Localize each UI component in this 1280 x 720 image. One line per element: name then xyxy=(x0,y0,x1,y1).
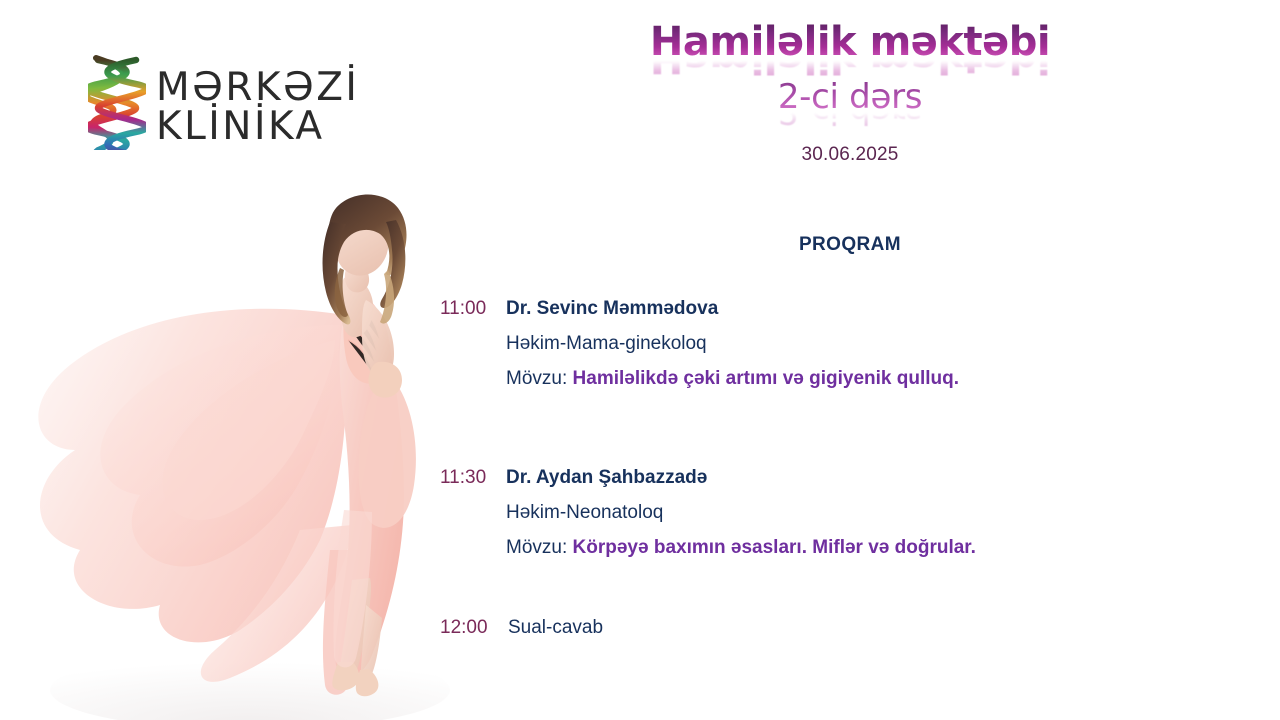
main-title-wrap: Hamiləlik məktəbi Hamiləlik məktəbi xyxy=(600,22,1100,78)
brand-logo: MƏRKƏZİ KLİNİKA xyxy=(88,50,338,165)
program-schedule: 11:00 Dr. Sevinc Məmmədova Həkim-Mama-gi… xyxy=(440,298,1230,639)
dna-helix-icon xyxy=(88,54,146,162)
topic-text: Körpəyə baxımın əsasları. Miflər və doğr… xyxy=(573,537,976,558)
session-role: Həkim-Neonatoloq xyxy=(506,502,1230,524)
page-title: Hamiləlik məktəbi xyxy=(600,22,1100,62)
subtitle-wrap: 2-ci dərs 2-ci dərs xyxy=(600,80,1100,128)
program-heading: PROQRAM xyxy=(600,234,1100,256)
session-speaker: Dr. Sevinc Məmmədova xyxy=(506,298,718,320)
page-subtitle-reflection: 2-ci dərs xyxy=(600,113,1100,128)
session-header: 11:00 Dr. Sevinc Məmmədova xyxy=(440,298,1230,320)
closing-label: Sual-cavab xyxy=(506,617,603,639)
session-header: 11:30 Dr. Aydan Şahbazzadə xyxy=(440,467,1230,489)
brand-name-line1: MƏRKƏZİ xyxy=(156,69,359,107)
closing-header: 12:00 Sual-cavab xyxy=(440,617,1230,639)
schedule-gap xyxy=(440,559,1230,617)
schedule-session: 11:30 Dr. Aydan Şahbazzadə Həkim-Neonato… xyxy=(440,467,1230,559)
page-title-reflection: Hamiləlik məktəbi xyxy=(600,61,1100,78)
page-subtitle: 2-ci dərs xyxy=(600,80,1100,114)
brand-name-line2: KLİNİKA xyxy=(156,108,359,146)
title-block: Hamiləlik məktəbi Hamiləlik məktəbi 2-ci… xyxy=(600,22,1100,166)
topic-label: Mövzu: xyxy=(506,537,567,558)
session-speaker: Dr. Aydan Şahbazzadə xyxy=(506,467,707,489)
topic-label: Mövzu: xyxy=(506,368,567,389)
session-time: 11:30 xyxy=(440,467,506,489)
schedule-session: 11:00 Dr. Sevinc Məmmədova Həkim-Mama-gi… xyxy=(440,298,1230,390)
session-role: Həkim-Mama-ginekoloq xyxy=(506,333,1230,355)
hero-image-pregnant-woman xyxy=(0,150,450,720)
session-topic: Mövzu: Hamiləlikdə çəki artımı və gigiye… xyxy=(506,368,1230,390)
schedule-gap xyxy=(440,390,1230,467)
schedule-closing: 12:00 Sual-cavab xyxy=(440,617,1230,639)
closing-time: 12:00 xyxy=(440,617,506,639)
brand-wordmark: MƏRKƏZİ KLİNİKA xyxy=(156,69,359,145)
session-topic: Mövzu: Körpəyə baxımın əsasları. Miflər … xyxy=(506,537,1230,559)
topic-text: Hamiləlikdə çəki artımı və gigiyenik qul… xyxy=(573,368,959,389)
event-date: 30.06.2025 xyxy=(600,144,1100,166)
session-time: 11:00 xyxy=(440,298,506,320)
